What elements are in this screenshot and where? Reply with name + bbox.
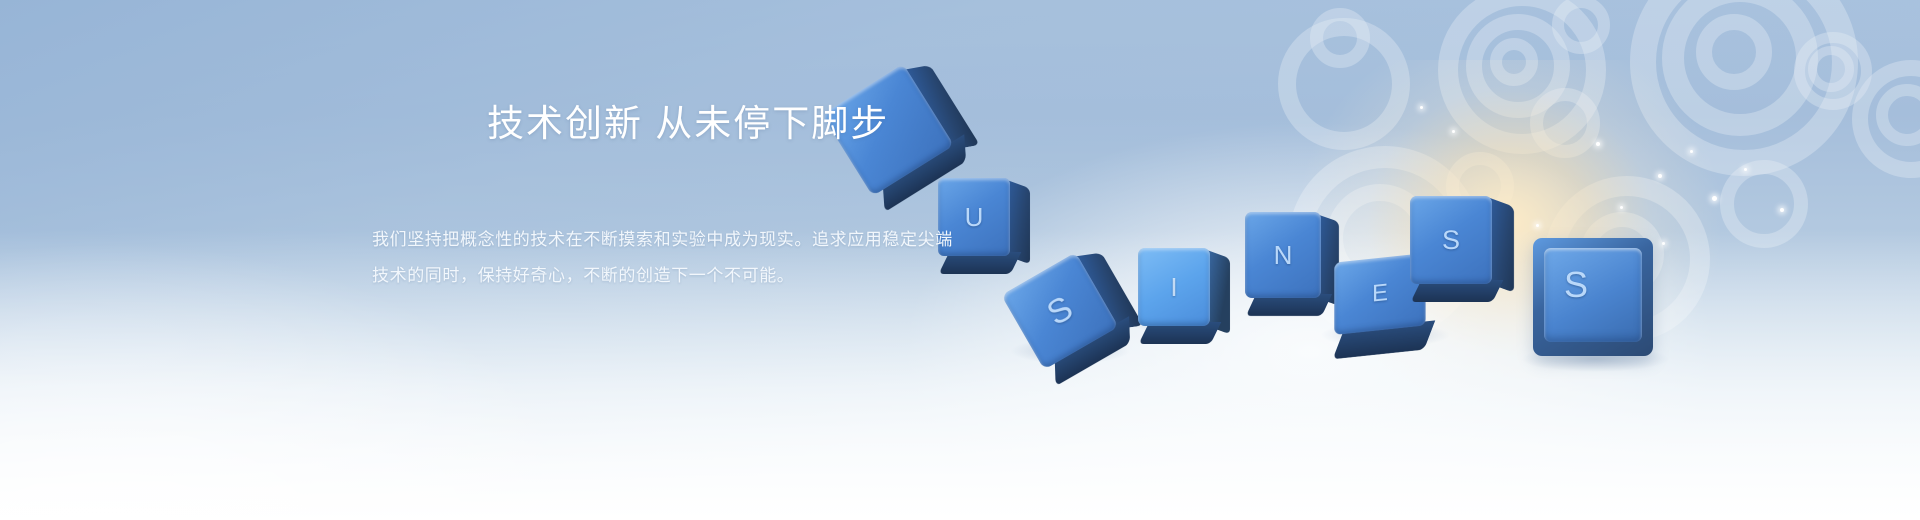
sparkle-icon [1620,206,1623,209]
description-line-1: 我们坚持把概念性的技术在不断摸索和实验中成为现实。追求应用稳定尖端 [372,222,953,258]
keycap-u: U [938,178,1010,256]
sparkle-icon [1420,106,1423,109]
banner-description: 我们坚持把概念性的技术在不断摸索和实验中成为现实。追求应用稳定尖端 技术的同时，… [372,222,953,294]
ring-icon [1278,18,1410,150]
sparkle-icon [1780,208,1784,212]
ring-icon [1490,38,1538,86]
keycap-glyph: I [1170,272,1177,303]
keycap-face: N [1245,212,1321,298]
sparkle-icon [1662,242,1665,245]
ring-icon [1530,88,1600,158]
ring-icon [1438,0,1606,154]
ring-icon [1720,160,1808,248]
sparkle-icon [1452,130,1455,133]
ring-icon [1466,14,1570,118]
ring-icon [1662,0,1818,136]
keycap-glyph: S [1040,288,1079,333]
description-line-2: 技术的同时，保持好奇心，不断的创造下一个不可能。 [372,258,953,294]
sparkle-icon [1596,142,1600,146]
ring-icon [1552,0,1610,54]
ring-icon [1876,84,1920,146]
keycap-face: S [1410,196,1492,284]
ring-icon [1310,8,1370,68]
ring-icon [1696,14,1772,90]
keycap-glyph: N [1274,240,1293,271]
keycap-face: I [1138,248,1210,326]
keycap-n: N [1245,212,1321,298]
sparkle-icon [1744,168,1747,171]
keycap-glyph: E [1372,279,1388,309]
keycap-cube-blank [822,64,954,196]
sparkle-icon [1690,150,1693,153]
ring-icon [1630,0,1858,176]
ring-icon [1808,46,1854,92]
keycap-s-3: S [1533,238,1653,356]
keycap-glyph: U [965,202,984,233]
keycap-glyph: S [1564,264,1588,306]
ring-icon [1794,32,1872,110]
background-wash-bottom-left [0,230,640,520]
keycap-s-2: S [1410,196,1492,284]
keycap-face: U [938,178,1010,256]
keycap-glyph: S [1442,225,1460,256]
sparkle-icon [1536,224,1539,227]
sparkle-icon [1658,174,1662,178]
hero-banner: U S I N E S [0,0,1920,520]
ring-icon [1852,60,1920,178]
keycap-face: S [1544,248,1642,342]
sparkle-icon [1712,196,1717,201]
keycap-i: I [1138,248,1210,326]
